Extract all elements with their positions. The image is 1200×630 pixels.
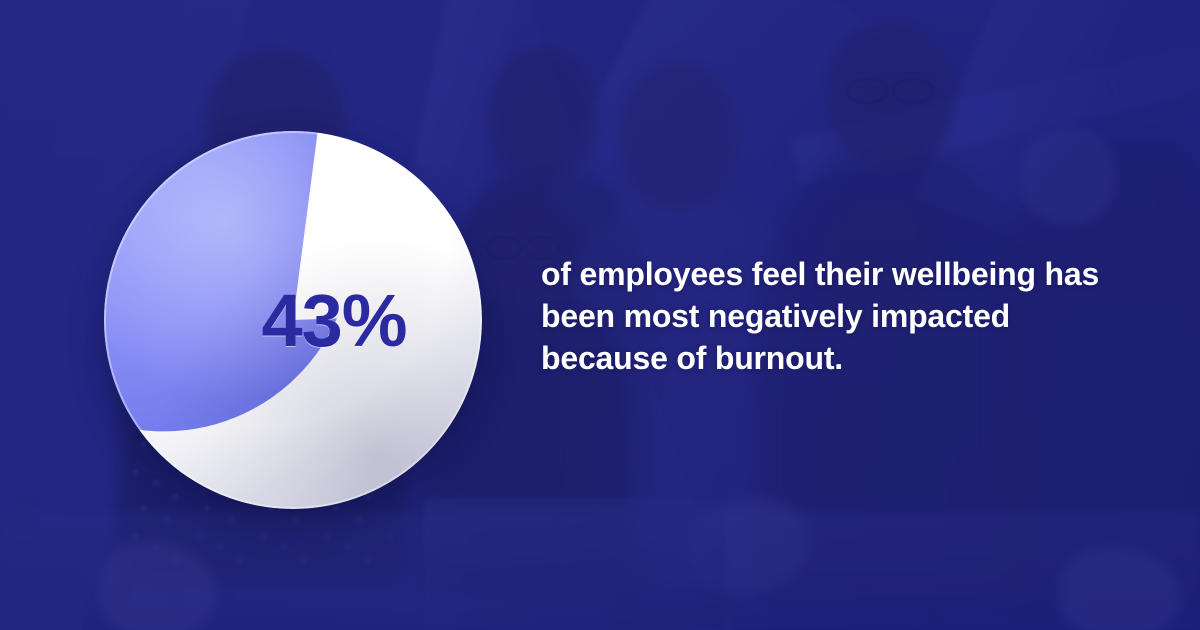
infographic-canvas: 43% of employees feel their wellbeing ha… — [0, 0, 1200, 630]
pie-chart: 43% — [104, 131, 482, 509]
pie-chart-value-label: 43% — [104, 131, 482, 509]
statistic-statement: of employees feel their wellbeing has be… — [541, 253, 1141, 379]
